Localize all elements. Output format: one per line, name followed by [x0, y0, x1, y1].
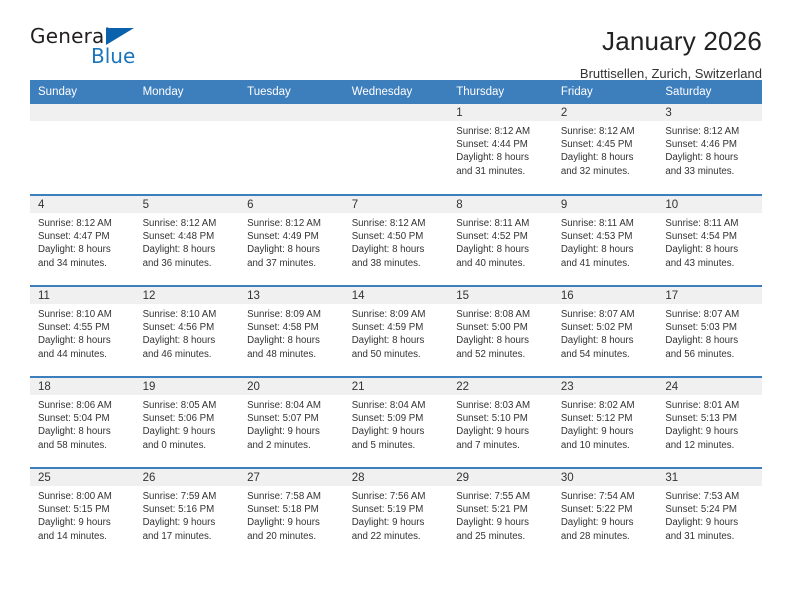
daylight-text-line2: and 25 minutes.	[456, 530, 548, 543]
sunset-text: Sunset: 4:53 PM	[561, 230, 653, 243]
day-number: 17	[657, 287, 762, 304]
calendar-day-cell[interactable]: 19Sunrise: 8:05 AMSunset: 5:06 PMDayligh…	[135, 377, 240, 468]
day-number: 28	[344, 469, 449, 486]
day-number: 3	[657, 104, 762, 121]
sunset-text: Sunset: 5:06 PM	[143, 412, 235, 425]
calendar-page: General Blue January 2026 Bruttisellen, …	[0, 0, 792, 612]
day-details: Sunrise: 8:04 AMSunset: 5:09 PMDaylight:…	[344, 395, 449, 452]
sunrise-text: Sunrise: 8:00 AM	[38, 490, 130, 503]
daylight-text-line1: Daylight: 8 hours	[143, 334, 235, 347]
sunrise-text: Sunrise: 7:56 AM	[352, 490, 444, 503]
calendar-day-cell[interactable]: 18Sunrise: 8:06 AMSunset: 5:04 PMDayligh…	[30, 377, 135, 468]
calendar-day-cell[interactable]: 8Sunrise: 8:11 AMSunset: 4:52 PMDaylight…	[448, 195, 553, 286]
day-details: Sunrise: 8:05 AMSunset: 5:06 PMDaylight:…	[135, 395, 240, 452]
sunset-text: Sunset: 5:13 PM	[665, 412, 757, 425]
daylight-text-line1: Daylight: 8 hours	[561, 334, 653, 347]
daylight-text-line1: Daylight: 9 hours	[665, 425, 757, 438]
sunset-text: Sunset: 5:16 PM	[143, 503, 235, 516]
daylight-text-line1: Daylight: 8 hours	[352, 243, 444, 256]
sunrise-text: Sunrise: 8:11 AM	[561, 217, 653, 230]
day-details: Sunrise: 7:53 AMSunset: 5:24 PMDaylight:…	[657, 486, 762, 543]
sunset-text: Sunset: 5:15 PM	[38, 503, 130, 516]
day-details: Sunrise: 8:04 AMSunset: 5:07 PMDaylight:…	[239, 395, 344, 452]
sunset-text: Sunset: 4:48 PM	[143, 230, 235, 243]
calendar-day-cell[interactable]: 6Sunrise: 8:12 AMSunset: 4:49 PMDaylight…	[239, 195, 344, 286]
calendar-day-cell[interactable]: 23Sunrise: 8:02 AMSunset: 5:12 PMDayligh…	[553, 377, 658, 468]
day-details: Sunrise: 8:08 AMSunset: 5:00 PMDaylight:…	[448, 304, 553, 361]
daylight-text-line2: and 20 minutes.	[247, 530, 339, 543]
sunset-text: Sunset: 5:18 PM	[247, 503, 339, 516]
day-details: Sunrise: 8:10 AMSunset: 4:56 PMDaylight:…	[135, 304, 240, 361]
calendar-day-cell[interactable]: 27Sunrise: 7:58 AMSunset: 5:18 PMDayligh…	[239, 468, 344, 559]
sunset-text: Sunset: 5:19 PM	[352, 503, 444, 516]
day-number: 22	[448, 378, 553, 395]
sunset-text: Sunset: 4:52 PM	[456, 230, 548, 243]
daylight-text-line2: and 10 minutes.	[561, 439, 653, 452]
day-details: Sunrise: 8:09 AMSunset: 4:59 PMDaylight:…	[344, 304, 449, 361]
daylight-text-line2: and 54 minutes.	[561, 348, 653, 361]
daylight-text-line1: Daylight: 8 hours	[247, 334, 339, 347]
title-block: January 2026 Bruttisellen, Zurich, Switz…	[580, 26, 762, 81]
calendar-day-cell[interactable]: 13Sunrise: 8:09 AMSunset: 4:58 PMDayligh…	[239, 286, 344, 377]
day-details: Sunrise: 7:56 AMSunset: 5:19 PMDaylight:…	[344, 486, 449, 543]
day-details: Sunrise: 8:10 AMSunset: 4:55 PMDaylight:…	[30, 304, 135, 361]
daylight-text-line1: Daylight: 8 hours	[665, 334, 757, 347]
calendar-week-row: 1Sunrise: 8:12 AMSunset: 4:44 PMDaylight…	[30, 104, 762, 195]
sunrise-text: Sunrise: 8:04 AM	[247, 399, 339, 412]
calendar-day-cell[interactable]: 7Sunrise: 8:12 AMSunset: 4:50 PMDaylight…	[344, 195, 449, 286]
calendar-week-row: 25Sunrise: 8:00 AMSunset: 5:15 PMDayligh…	[30, 468, 762, 559]
sunset-text: Sunset: 5:02 PM	[561, 321, 653, 334]
daylight-text-line1: Daylight: 9 hours	[247, 425, 339, 438]
calendar-day-cell[interactable]: 25Sunrise: 8:00 AMSunset: 5:15 PMDayligh…	[30, 468, 135, 559]
day-number: 6	[239, 196, 344, 213]
daylight-text-line1: Daylight: 9 hours	[38, 516, 130, 529]
day-number: 12	[135, 287, 240, 304]
day-details: Sunrise: 8:12 AMSunset: 4:48 PMDaylight:…	[135, 213, 240, 270]
calendar-day-cell[interactable]: 26Sunrise: 7:59 AMSunset: 5:16 PMDayligh…	[135, 468, 240, 559]
sunset-text: Sunset: 4:56 PM	[143, 321, 235, 334]
page-subtitle: Bruttisellen, Zurich, Switzerland	[580, 66, 762, 81]
day-number: 8	[448, 196, 553, 213]
sunrise-text: Sunrise: 8:12 AM	[38, 217, 130, 230]
day-number: 5	[135, 196, 240, 213]
day-details: Sunrise: 8:12 AMSunset: 4:46 PMDaylight:…	[657, 121, 762, 178]
daylight-text-line1: Daylight: 8 hours	[352, 334, 444, 347]
calendar-week-row: 11Sunrise: 8:10 AMSunset: 4:55 PMDayligh…	[30, 286, 762, 377]
day-details: Sunrise: 8:06 AMSunset: 5:04 PMDaylight:…	[30, 395, 135, 452]
daylight-text-line2: and 41 minutes.	[561, 257, 653, 270]
calendar-day-cell[interactable]: 11Sunrise: 8:10 AMSunset: 4:55 PMDayligh…	[30, 286, 135, 377]
sunset-text: Sunset: 4:44 PM	[456, 138, 548, 151]
day-details: Sunrise: 7:54 AMSunset: 5:22 PMDaylight:…	[553, 486, 658, 543]
day-details: Sunrise: 8:12 AMSunset: 4:44 PMDaylight:…	[448, 121, 553, 178]
calendar-day-cell[interactable]: 31Sunrise: 7:53 AMSunset: 5:24 PMDayligh…	[657, 468, 762, 559]
page-header: General Blue January 2026 Bruttisellen, …	[30, 0, 762, 72]
page-title: January 2026	[580, 26, 762, 56]
day-details: Sunrise: 8:11 AMSunset: 4:53 PMDaylight:…	[553, 213, 658, 270]
sunset-text: Sunset: 5:12 PM	[561, 412, 653, 425]
calendar-day-cell[interactable]: 5Sunrise: 8:12 AMSunset: 4:48 PMDaylight…	[135, 195, 240, 286]
daylight-text-line2: and 0 minutes.	[143, 439, 235, 452]
day-number	[30, 104, 135, 121]
daylight-text-line1: Daylight: 9 hours	[352, 425, 444, 438]
weekday-header-thursday: Thursday	[448, 80, 553, 104]
sunrise-text: Sunrise: 7:55 AM	[456, 490, 548, 503]
sunset-text: Sunset: 4:49 PM	[247, 230, 339, 243]
weekday-header-sunday: Sunday	[30, 80, 135, 104]
day-number: 2	[553, 104, 658, 121]
sunrise-text: Sunrise: 8:12 AM	[143, 217, 235, 230]
sunset-text: Sunset: 4:58 PM	[247, 321, 339, 334]
daylight-text-line1: Daylight: 9 hours	[352, 516, 444, 529]
daylight-text-line2: and 12 minutes.	[665, 439, 757, 452]
day-details: Sunrise: 8:12 AMSunset: 4:47 PMDaylight:…	[30, 213, 135, 270]
sunset-text: Sunset: 4:54 PM	[665, 230, 757, 243]
daylight-text-line2: and 50 minutes.	[352, 348, 444, 361]
sunrise-text: Sunrise: 7:53 AM	[665, 490, 757, 503]
sunset-text: Sunset: 5:00 PM	[456, 321, 548, 334]
calendar-cell-empty	[344, 104, 449, 195]
day-number	[239, 104, 344, 121]
daylight-text-line1: Daylight: 8 hours	[665, 243, 757, 256]
day-number: 27	[239, 469, 344, 486]
day-number: 24	[657, 378, 762, 395]
daylight-text-line1: Daylight: 9 hours	[561, 516, 653, 529]
weekday-header-wednesday: Wednesday	[344, 80, 449, 104]
calendar-day-cell[interactable]: 2Sunrise: 8:12 AMSunset: 4:45 PMDaylight…	[553, 104, 658, 195]
daylight-text-line2: and 2 minutes.	[247, 439, 339, 452]
daylight-text-line2: and 46 minutes.	[143, 348, 235, 361]
day-details: Sunrise: 8:11 AMSunset: 4:54 PMDaylight:…	[657, 213, 762, 270]
sunrise-text: Sunrise: 7:54 AM	[561, 490, 653, 503]
calendar-body: 1Sunrise: 8:12 AMSunset: 4:44 PMDaylight…	[30, 104, 762, 559]
day-number: 9	[553, 196, 658, 213]
sunset-text: Sunset: 5:10 PM	[456, 412, 548, 425]
sunset-text: Sunset: 5:09 PM	[352, 412, 444, 425]
calendar-day-cell[interactable]: 4Sunrise: 8:12 AMSunset: 4:47 PMDaylight…	[30, 195, 135, 286]
sunrise-text: Sunrise: 7:58 AM	[247, 490, 339, 503]
daylight-text-line1: Daylight: 8 hours	[665, 151, 757, 164]
daylight-text-line2: and 7 minutes.	[456, 439, 548, 452]
triangle-icon	[106, 28, 134, 45]
sunrise-text: Sunrise: 8:12 AM	[665, 125, 757, 138]
sunrise-text: Sunrise: 8:10 AM	[38, 308, 130, 321]
day-number	[135, 104, 240, 121]
day-details: Sunrise: 8:12 AMSunset: 4:49 PMDaylight:…	[239, 213, 344, 270]
day-details: Sunrise: 7:58 AMSunset: 5:18 PMDaylight:…	[239, 486, 344, 543]
sunrise-text: Sunrise: 7:59 AM	[143, 490, 235, 503]
day-details: Sunrise: 8:02 AMSunset: 5:12 PMDaylight:…	[553, 395, 658, 452]
sunrise-text: Sunrise: 8:12 AM	[247, 217, 339, 230]
day-details: Sunrise: 8:12 AMSunset: 4:45 PMDaylight:…	[553, 121, 658, 178]
daylight-text-line1: Daylight: 8 hours	[561, 243, 653, 256]
sunset-text: Sunset: 5:07 PM	[247, 412, 339, 425]
general-blue-logo[interactable]: General Blue	[30, 26, 160, 72]
calendar-day-cell[interactable]: 21Sunrise: 8:04 AMSunset: 5:09 PMDayligh…	[344, 377, 449, 468]
day-number	[344, 104, 449, 121]
sunset-text: Sunset: 4:47 PM	[38, 230, 130, 243]
sunset-text: Sunset: 5:22 PM	[561, 503, 653, 516]
day-number: 14	[344, 287, 449, 304]
day-details: Sunrise: 7:55 AMSunset: 5:21 PMDaylight:…	[448, 486, 553, 543]
day-number: 15	[448, 287, 553, 304]
day-details: Sunrise: 8:07 AMSunset: 5:03 PMDaylight:…	[657, 304, 762, 361]
calendar-day-cell[interactable]: 22Sunrise: 8:03 AMSunset: 5:10 PMDayligh…	[448, 377, 553, 468]
daylight-text-line2: and 31 minutes.	[665, 530, 757, 543]
day-number: 19	[135, 378, 240, 395]
day-number: 26	[135, 469, 240, 486]
calendar-day-cell[interactable]: 20Sunrise: 8:04 AMSunset: 5:07 PMDayligh…	[239, 377, 344, 468]
day-number: 1	[448, 104, 553, 121]
daylight-text-line2: and 22 minutes.	[352, 530, 444, 543]
daylight-text-line2: and 38 minutes.	[352, 257, 444, 270]
day-number: 23	[553, 378, 658, 395]
day-number: 10	[657, 196, 762, 213]
day-details: Sunrise: 8:12 AMSunset: 4:50 PMDaylight:…	[344, 213, 449, 270]
calendar-cell-empty	[135, 104, 240, 195]
sunset-text: Sunset: 5:04 PM	[38, 412, 130, 425]
day-number: 11	[30, 287, 135, 304]
sunrise-text: Sunrise: 8:07 AM	[561, 308, 653, 321]
day-number: 25	[30, 469, 135, 486]
daylight-text-line1: Daylight: 8 hours	[561, 151, 653, 164]
day-details: Sunrise: 8:07 AMSunset: 5:02 PMDaylight:…	[553, 304, 658, 361]
daylight-text-line2: and 32 minutes.	[561, 165, 653, 178]
sunrise-text: Sunrise: 8:04 AM	[352, 399, 444, 412]
day-details: Sunrise: 8:01 AMSunset: 5:13 PMDaylight:…	[657, 395, 762, 452]
daylight-text-line2: and 36 minutes.	[143, 257, 235, 270]
calendar-day-cell[interactable]: 9Sunrise: 8:11 AMSunset: 4:53 PMDaylight…	[553, 195, 658, 286]
calendar-day-cell[interactable]: 24Sunrise: 8:01 AMSunset: 5:13 PMDayligh…	[657, 377, 762, 468]
sunrise-text: Sunrise: 8:12 AM	[456, 125, 548, 138]
daylight-text-line2: and 34 minutes.	[38, 257, 130, 270]
daylight-text-line2: and 5 minutes.	[352, 439, 444, 452]
sunrise-text: Sunrise: 8:07 AM	[665, 308, 757, 321]
sunset-text: Sunset: 4:55 PM	[38, 321, 130, 334]
day-number: 4	[30, 196, 135, 213]
sunset-text: Sunset: 5:24 PM	[665, 503, 757, 516]
calendar-week-row: 4Sunrise: 8:12 AMSunset: 4:47 PMDaylight…	[30, 195, 762, 286]
day-number: 16	[553, 287, 658, 304]
day-details: Sunrise: 7:59 AMSunset: 5:16 PMDaylight:…	[135, 486, 240, 543]
sunrise-text: Sunrise: 8:02 AM	[561, 399, 653, 412]
weekday-header-tuesday: Tuesday	[239, 80, 344, 104]
day-number: 18	[30, 378, 135, 395]
daylight-text-line1: Daylight: 9 hours	[143, 516, 235, 529]
day-number: 21	[344, 378, 449, 395]
daylight-text-line2: and 40 minutes.	[456, 257, 548, 270]
calendar-day-cell[interactable]: 12Sunrise: 8:10 AMSunset: 4:56 PMDayligh…	[135, 286, 240, 377]
calendar-cell-empty	[239, 104, 344, 195]
day-number: 31	[657, 469, 762, 486]
calendar-day-cell[interactable]: 10Sunrise: 8:11 AMSunset: 4:54 PMDayligh…	[657, 195, 762, 286]
daylight-text-line1: Daylight: 9 hours	[561, 425, 653, 438]
daylight-text-line1: Daylight: 8 hours	[38, 425, 130, 438]
daylight-text-line1: Daylight: 8 hours	[38, 243, 130, 256]
weekday-header-friday: Friday	[553, 80, 658, 104]
calendar-day-cell[interactable]: 3Sunrise: 8:12 AMSunset: 4:46 PMDaylight…	[657, 104, 762, 195]
calendar-day-cell[interactable]: 15Sunrise: 8:08 AMSunset: 5:00 PMDayligh…	[448, 286, 553, 377]
daylight-text-line1: Daylight: 8 hours	[143, 243, 235, 256]
daylight-text-line1: Daylight: 9 hours	[456, 516, 548, 529]
calendar-day-cell[interactable]: 29Sunrise: 7:55 AMSunset: 5:21 PMDayligh…	[448, 468, 553, 559]
daylight-text-line1: Daylight: 8 hours	[456, 151, 548, 164]
sunrise-text: Sunrise: 8:09 AM	[352, 308, 444, 321]
calendar-header-row: SundayMondayTuesdayWednesdayThursdayFrid…	[30, 80, 762, 104]
daylight-text-line2: and 56 minutes.	[665, 348, 757, 361]
day-number: 20	[239, 378, 344, 395]
daylight-text-line2: and 28 minutes.	[561, 530, 653, 543]
weekday-header-monday: Monday	[135, 80, 240, 104]
sunrise-text: Sunrise: 8:08 AM	[456, 308, 548, 321]
sunset-text: Sunset: 4:45 PM	[561, 138, 653, 151]
sunrise-text: Sunrise: 8:05 AM	[143, 399, 235, 412]
calendar-table: SundayMondayTuesdayWednesdayThursdayFrid…	[30, 80, 762, 559]
logo-text-blue: Blue	[91, 46, 135, 66]
sunrise-text: Sunrise: 8:11 AM	[665, 217, 757, 230]
daylight-text-line1: Daylight: 9 hours	[143, 425, 235, 438]
day-details: Sunrise: 8:09 AMSunset: 4:58 PMDaylight:…	[239, 304, 344, 361]
daylight-text-line2: and 14 minutes.	[38, 530, 130, 543]
daylight-text-line2: and 48 minutes.	[247, 348, 339, 361]
calendar-week-row: 18Sunrise: 8:06 AMSunset: 5:04 PMDayligh…	[30, 377, 762, 468]
day-number: 29	[448, 469, 553, 486]
calendar-day-cell[interactable]: 1Sunrise: 8:12 AMSunset: 4:44 PMDaylight…	[448, 104, 553, 195]
sunrise-text: Sunrise: 8:10 AM	[143, 308, 235, 321]
day-number: 13	[239, 287, 344, 304]
daylight-text-line1: Daylight: 8 hours	[456, 243, 548, 256]
calendar-day-cell[interactable]: 30Sunrise: 7:54 AMSunset: 5:22 PMDayligh…	[553, 468, 658, 559]
daylight-text-line2: and 33 minutes.	[665, 165, 757, 178]
calendar-cell-empty	[30, 104, 135, 195]
calendar-day-cell[interactable]: 14Sunrise: 8:09 AMSunset: 4:59 PMDayligh…	[344, 286, 449, 377]
calendar-day-cell[interactable]: 17Sunrise: 8:07 AMSunset: 5:03 PMDayligh…	[657, 286, 762, 377]
daylight-text-line2: and 58 minutes.	[38, 439, 130, 452]
sunrise-text: Sunrise: 8:12 AM	[352, 217, 444, 230]
sunrise-text: Sunrise: 8:12 AM	[561, 125, 653, 138]
daylight-text-line2: and 52 minutes.	[456, 348, 548, 361]
sunset-text: Sunset: 5:21 PM	[456, 503, 548, 516]
daylight-text-line2: and 37 minutes.	[247, 257, 339, 270]
day-details: Sunrise: 8:11 AMSunset: 4:52 PMDaylight:…	[448, 213, 553, 270]
sunrise-text: Sunrise: 8:01 AM	[665, 399, 757, 412]
sunset-text: Sunset: 4:46 PM	[665, 138, 757, 151]
day-details: Sunrise: 8:03 AMSunset: 5:10 PMDaylight:…	[448, 395, 553, 452]
daylight-text-line1: Daylight: 9 hours	[456, 425, 548, 438]
daylight-text-line1: Daylight: 8 hours	[38, 334, 130, 347]
day-number: 7	[344, 196, 449, 213]
daylight-text-line2: and 44 minutes.	[38, 348, 130, 361]
sunrise-text: Sunrise: 8:03 AM	[456, 399, 548, 412]
sunrise-text: Sunrise: 8:06 AM	[38, 399, 130, 412]
daylight-text-line2: and 17 minutes.	[143, 530, 235, 543]
daylight-text-line1: Daylight: 8 hours	[247, 243, 339, 256]
weekday-header-saturday: Saturday	[657, 80, 762, 104]
sunrise-text: Sunrise: 8:09 AM	[247, 308, 339, 321]
daylight-text-line1: Daylight: 9 hours	[247, 516, 339, 529]
day-number: 30	[553, 469, 658, 486]
calendar-day-cell[interactable]: 28Sunrise: 7:56 AMSunset: 5:19 PMDayligh…	[344, 468, 449, 559]
daylight-text-line2: and 31 minutes.	[456, 165, 548, 178]
daylight-text-line1: Daylight: 8 hours	[456, 334, 548, 347]
sunset-text: Sunset: 4:50 PM	[352, 230, 444, 243]
daylight-text-line1: Daylight: 9 hours	[665, 516, 757, 529]
daylight-text-line2: and 43 minutes.	[665, 257, 757, 270]
sunset-text: Sunset: 5:03 PM	[665, 321, 757, 334]
sunrise-text: Sunrise: 8:11 AM	[456, 217, 548, 230]
sunset-text: Sunset: 4:59 PM	[352, 321, 444, 334]
calendar-day-cell[interactable]: 16Sunrise: 8:07 AMSunset: 5:02 PMDayligh…	[553, 286, 658, 377]
day-details: Sunrise: 8:00 AMSunset: 5:15 PMDaylight:…	[30, 486, 135, 543]
